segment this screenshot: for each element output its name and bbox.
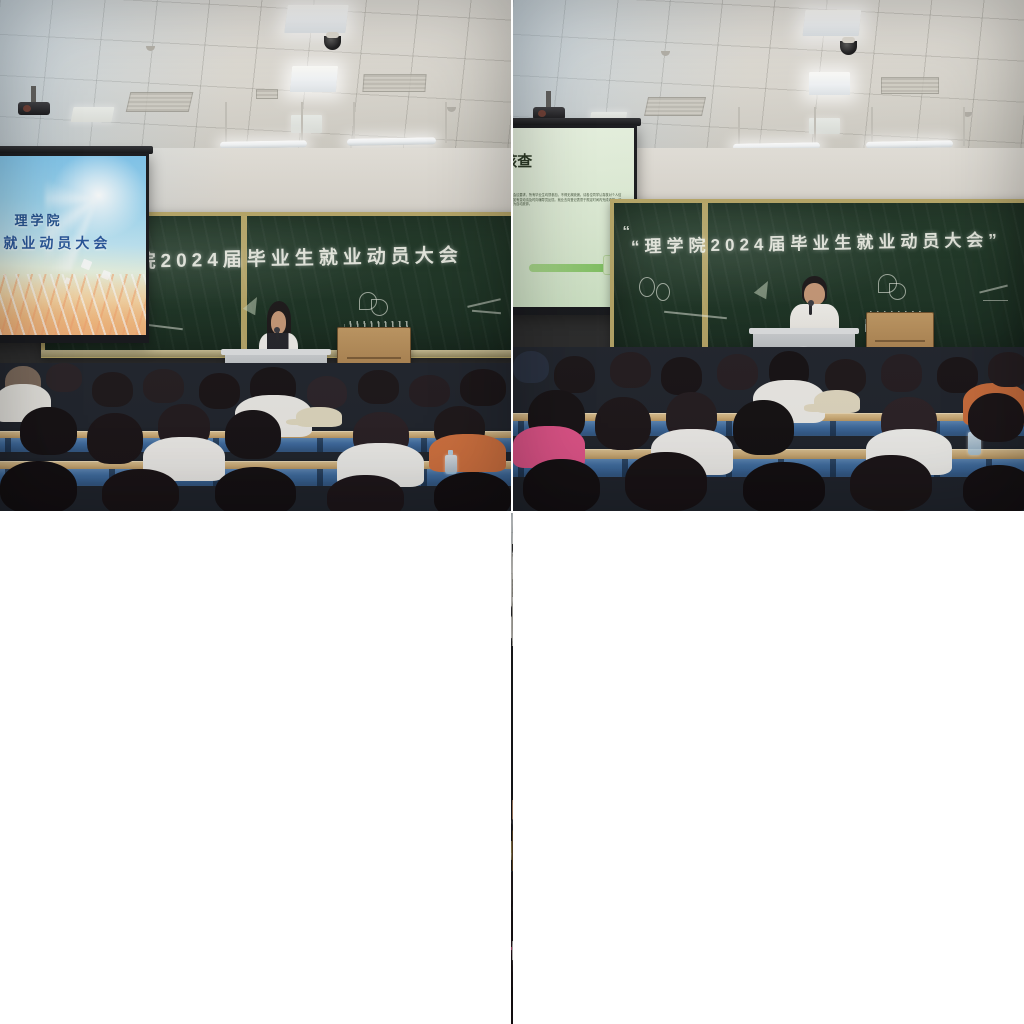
panel-light-icon <box>290 66 338 92</box>
audience-head <box>102 469 179 511</box>
audience-body <box>429 434 506 473</box>
audience-head <box>733 400 794 456</box>
audience-head <box>307 376 348 409</box>
light-rod <box>353 102 355 140</box>
air-vent-icon <box>881 77 939 94</box>
audience-head <box>743 462 825 511</box>
audience-head <box>358 370 399 404</box>
slide-title: 源核查 <box>513 150 532 171</box>
chalk-swirl <box>664 310 727 318</box>
audience-head <box>46 363 82 393</box>
chalk-mark <box>472 310 501 314</box>
light-rod <box>738 107 740 145</box>
air-vent-icon <box>362 74 427 92</box>
air-vent-icon <box>512 579 513 596</box>
water-bottle <box>445 455 457 474</box>
audience-head <box>0 461 77 511</box>
audience-head <box>968 393 1024 442</box>
slide-blue-sky: 理学院 业生就业动员大会 <box>0 156 146 335</box>
audience-head <box>850 455 932 511</box>
audience-head <box>20 407 76 454</box>
light-rod <box>445 102 447 143</box>
slide-body-text: 本次会议要求，所有毕业生均须参加，不得无故缺席。请各位同学认真核对个人信息，如有… <box>513 193 622 208</box>
audience-head <box>554 356 595 394</box>
chalkboard-title: “理学院2024届毕业生就业动员大会” <box>631 226 1002 258</box>
chalk-balloon-icon <box>639 277 655 297</box>
audience-head <box>87 413 143 463</box>
panel-light-icon <box>809 72 850 95</box>
air-vent-icon <box>644 97 706 116</box>
projector-lens-icon <box>538 110 546 117</box>
audience-head <box>199 373 240 409</box>
chalk-open-quote: “ <box>622 223 630 240</box>
chalk-party-popper-icon <box>753 278 773 300</box>
baseball-cap-icon <box>296 407 342 426</box>
chalk-mark <box>983 300 1008 302</box>
light-rod <box>963 107 965 145</box>
audience-head <box>460 369 506 406</box>
audience-head <box>610 352 651 388</box>
audience-head <box>92 372 133 408</box>
fluorescent-tube-icon <box>866 140 953 149</box>
podium-top <box>749 328 859 334</box>
ceiling-projector-icon <box>18 102 50 115</box>
light-rod <box>871 107 873 143</box>
slide-subtitle: 业生就业动员大会 <box>0 233 111 253</box>
projection-screen-frame: 理学院 业生就业动员大会 <box>0 153 149 343</box>
audience-head <box>988 352 1024 386</box>
fluorescent-tube-icon <box>220 140 307 149</box>
baseball-cap-icon <box>814 390 860 413</box>
ceiling-light-spill <box>0 0 511 158</box>
microphone-icon <box>276 331 279 341</box>
audience-head <box>434 472 511 511</box>
panel-light-icon <box>803 10 862 36</box>
audience-head <box>523 459 600 511</box>
chalk-mark <box>467 298 501 307</box>
panel-light-icon <box>284 5 349 33</box>
audience-head <box>963 465 1024 511</box>
audience-head <box>327 475 404 511</box>
panel-light-icon <box>291 115 322 133</box>
audience-head <box>513 351 549 384</box>
microphone-icon <box>809 304 812 315</box>
audience-head <box>595 397 651 451</box>
chalk-mark <box>979 284 1008 293</box>
panel-top-left[interactable]: “ “理学院2024届毕业生就业动员大会 理 <box>0 0 511 511</box>
board-divider <box>241 216 247 354</box>
projection-screen: 理学院 业生就业动员大会 <box>0 156 146 335</box>
chalk-balloon-icon <box>656 283 670 301</box>
photo-collage: “ “理学院2024届毕业生就业动员大会 理 <box>0 0 1024 1024</box>
air-vent-icon <box>256 89 278 98</box>
audience-head <box>225 410 281 459</box>
audience-head <box>661 357 702 395</box>
chalk-flower-icon <box>371 299 388 316</box>
grid-gap-vertical <box>513 513 1024 1024</box>
panel-light-icon <box>70 107 114 122</box>
audience-head <box>881 354 922 392</box>
panel-bottom-left[interactable]: “ “理学院2024届毕业生就业动员大 理学院 <box>511 513 513 1024</box>
chalk-flower-icon <box>889 283 906 300</box>
board-divider <box>702 203 708 356</box>
audience-seating <box>513 347 1024 511</box>
light-rod <box>225 102 227 143</box>
audience-head <box>625 452 707 511</box>
projector-lens-icon <box>23 105 31 112</box>
audience-seating <box>0 363 511 511</box>
podium-top <box>221 349 331 355</box>
audience-head <box>717 354 758 390</box>
panel-top-right[interactable]: 源核查 本次会议要求，所有毕业生均须参加，不得无故缺席。请各位同学认真核对个人信… <box>513 0 1024 511</box>
slide-progress-bar <box>529 264 615 272</box>
slide-grass-footer <box>0 274 146 335</box>
air-vent-icon <box>125 92 193 112</box>
audience-head <box>409 375 450 408</box>
audience-head <box>143 369 184 403</box>
audience-seating <box>511 871 513 1024</box>
audience-head <box>215 467 297 511</box>
light-rod <box>301 102 303 145</box>
slide-title: 理学院 <box>15 210 63 229</box>
grid-gap-horizontal <box>0 513 511 1024</box>
